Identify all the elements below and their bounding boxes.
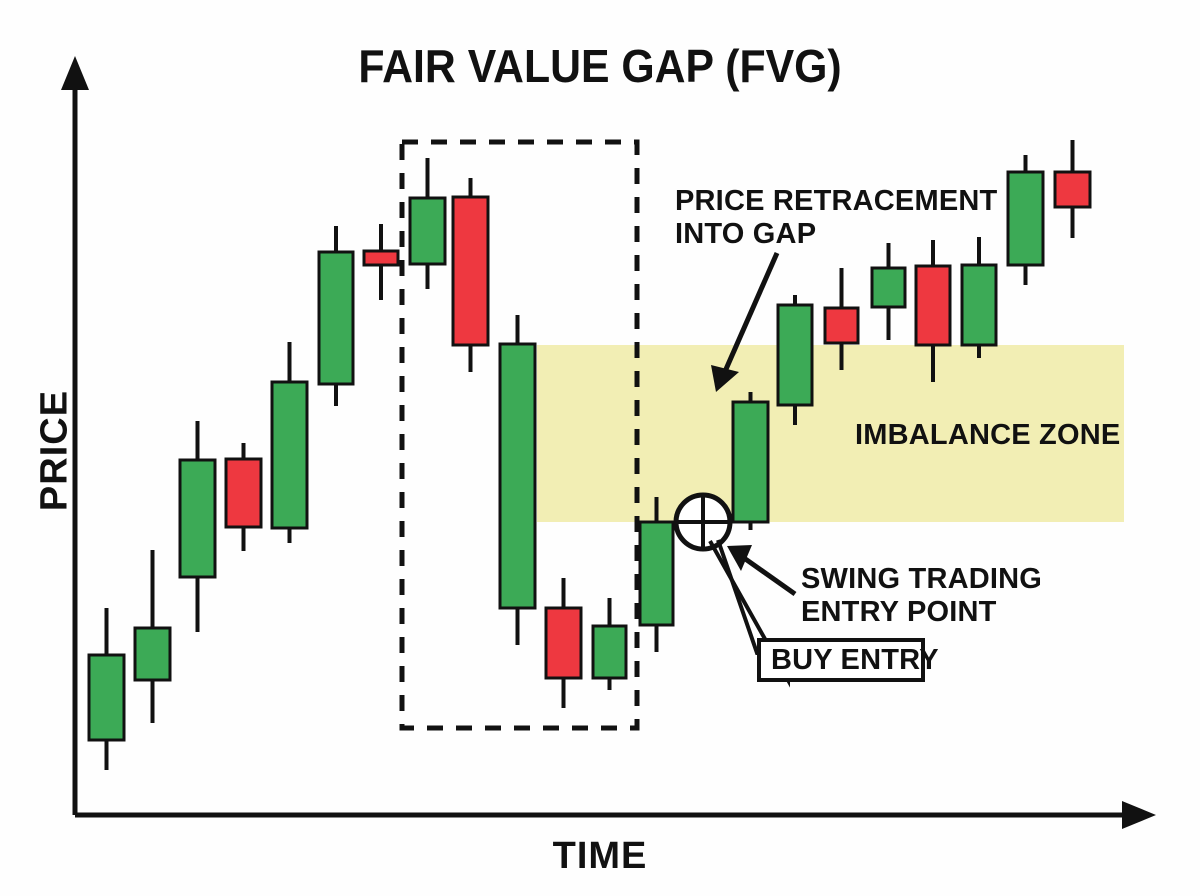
imbalance-zone-label: IMBALANCE ZONE xyxy=(855,420,1120,451)
bullish-candle-body xyxy=(962,265,996,345)
x-axis-label: TIME xyxy=(0,836,1200,877)
bearish-candle-body xyxy=(453,197,488,345)
bullish-candle-body xyxy=(272,382,307,528)
swing-entry-annotation: SWING TRADING ENTRY POINT xyxy=(801,564,1042,629)
page-title: FAIR VALUE GAP (FVG) xyxy=(42,42,1158,92)
bearish-candle-body xyxy=(226,459,261,527)
bullish-candle-body xyxy=(1008,172,1043,265)
entry-point-marker xyxy=(676,495,730,549)
bearish-candle-body xyxy=(1055,172,1090,207)
bullish-candle-body xyxy=(733,402,768,522)
buy-entry-label: BUY ENTRY xyxy=(771,645,939,676)
bearish-candle-body xyxy=(364,251,398,265)
y-axis-label-wrap: PRICE xyxy=(34,371,75,531)
bullish-candle-body xyxy=(135,628,170,680)
retracement-label-line1: PRICE RETRACEMENT xyxy=(675,186,997,217)
bullish-candle-body xyxy=(410,198,445,264)
bullish-candle-body xyxy=(778,305,812,405)
bullish-candle-body xyxy=(593,626,626,678)
swing-entry-line1: SWING TRADING xyxy=(801,564,1042,595)
bullish-candle-body xyxy=(89,655,124,740)
chart-canvas: FAIR VALUE GAP (FVG) PRICE TIME PRICE RE… xyxy=(0,0,1200,896)
bearish-candle-body xyxy=(546,608,581,678)
bearish-candle-body xyxy=(916,266,950,345)
bearish-candle-body xyxy=(825,308,858,343)
bullish-candle-body xyxy=(500,344,535,608)
swing-entry-line2: ENTRY POINT xyxy=(801,597,1042,628)
bullish-candle-body xyxy=(180,460,215,577)
price-retracement-annotation: PRICE RETRACEMENT INTO GAP xyxy=(675,186,997,251)
retracement-label-line2: INTO GAP xyxy=(675,219,997,250)
y-axis-label: PRICE xyxy=(33,390,75,511)
x-axis-arrowhead xyxy=(1122,801,1156,829)
bullish-candle-body xyxy=(640,522,673,625)
bullish-candle-body xyxy=(319,252,353,384)
bullish-candle-body xyxy=(872,268,905,307)
